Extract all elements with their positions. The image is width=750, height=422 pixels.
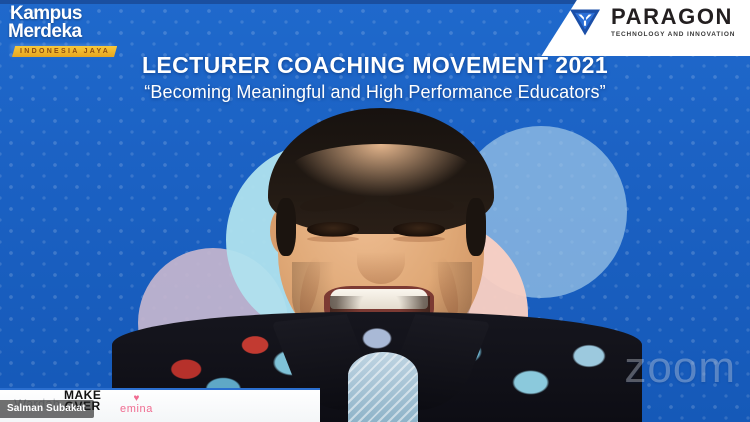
eye-right <box>393 222 445 237</box>
paragon-chevron-icon <box>568 7 602 37</box>
brand-emina-name: emina <box>120 403 153 415</box>
zoom-watermark: zoom <box>624 346 736 390</box>
kampus-merdeka-logo: Kampus Merdeka INDONESIA JAYA <box>6 4 118 52</box>
hair <box>268 108 494 234</box>
brand-logo-emina: ♥ emina <box>120 394 153 415</box>
paragon-wordmark: PARAGON <box>611 6 735 28</box>
kampus-merdeka-ribbon: INDONESIA JAYA <box>12 46 117 57</box>
paragon-wordmark-block: PARAGON TECHNOLOGY AND INNOVATION <box>611 6 735 38</box>
eye-left <box>307 222 359 237</box>
shirt-placket <box>348 352 418 422</box>
sideburn-right <box>466 198 486 256</box>
brand-bar-top-line <box>0 388 320 390</box>
sideburn-left <box>276 198 296 256</box>
participant-name-label: Salman Subakat <box>0 400 94 418</box>
kampus-merdeka-line2: Merdeka <box>6 22 118 41</box>
paragon-tagline: TECHNOLOGY AND INNOVATION <box>611 31 735 38</box>
heart-icon: ♥ <box>120 394 153 403</box>
zoom-video-frame: Kampus Merdeka INDONESIA JAYA PARAGON TE… <box>0 0 750 422</box>
